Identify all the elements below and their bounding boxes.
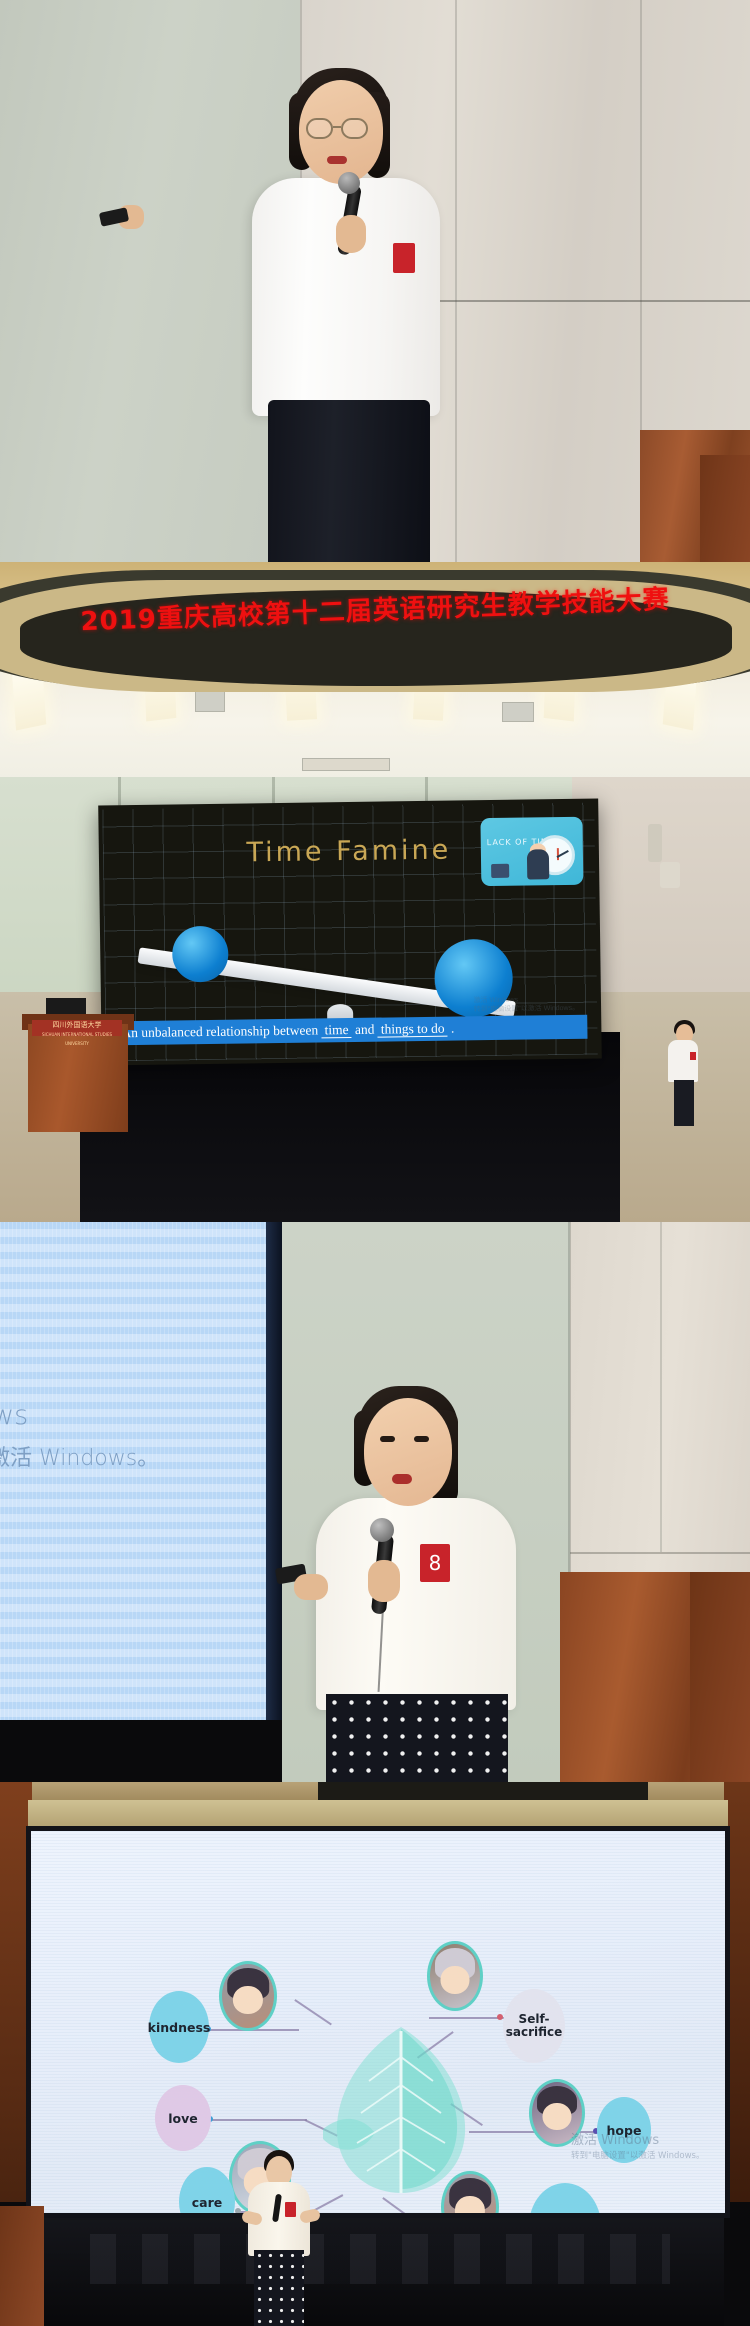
- avatar-face: [441, 1966, 470, 1994]
- windows-activation-watermark-title: 激活 Windows: [571, 2129, 659, 2148]
- projection-screen-partial: ws 激活 Windows。: [0, 1222, 278, 1720]
- caption-mid: and: [351, 1022, 377, 1037]
- speaker-mouth: [327, 156, 347, 164]
- ceiling-vent: [195, 690, 225, 712]
- screen-valance: [28, 1800, 728, 1828]
- windows-activation-watermark: 激活 Windows 转到"电脑设置"以激活 Windows。: [474, 995, 580, 1014]
- briefcase-icon: [491, 864, 509, 878]
- speaker-face: [364, 1398, 452, 1506]
- caption-prefix: An unbalanced relationship between: [121, 1022, 321, 1040]
- speaker-eye-right: [414, 1436, 429, 1442]
- avatar-face: [233, 1986, 263, 2014]
- microphone-head-icon: [370, 1518, 394, 1542]
- speaker-mouth: [392, 1474, 412, 1484]
- wall-speaker-icon: [648, 824, 662, 862]
- node-label-line-1: Self-: [519, 2012, 550, 2026]
- speaker-hand-right: [336, 215, 366, 253]
- mindmap-connector-self: [429, 2017, 505, 2019]
- photo-collage: 2019重庆高校第十二届英语研究生教学技能大赛 Time Famine LACK…: [0, 0, 750, 2326]
- panel-auditorium-wide: 2019重庆高校第十二届英语研究生教学技能大赛 Time Famine LACK…: [0, 562, 750, 1222]
- contestant-badge-number: 8: [420, 1544, 450, 1582]
- watermark-partial-line-1: ws: [0, 1400, 28, 1431]
- podium-nameplate-en: SICHUAN INTERNATIONAL STUDIES UNIVERSITY: [32, 1030, 122, 1048]
- node-label-line-2: sacrifice: [506, 2025, 563, 2039]
- speaker-blouse: [316, 1498, 516, 1710]
- watermark-line-2: 转到"电脑设置"以激活 Windows。: [474, 1004, 579, 1014]
- projector-screen: kindness love care Self- sacrifice hope …: [31, 1831, 725, 2213]
- slide-inset-illustration: LACK OF TIME: [480, 817, 583, 886]
- wall-seam: [455, 0, 457, 562]
- wall-speaker-icon: [660, 862, 680, 888]
- mindmap-node-kindness: kindness: [149, 1991, 209, 2063]
- caption-suffix: .: [447, 1021, 454, 1036]
- podium-monitor: [46, 998, 86, 1014]
- speaker-eye-left: [380, 1436, 395, 1442]
- slide-caption: An unbalanced relationship between time …: [115, 1015, 587, 1046]
- windows-activation-watermark-subtitle: 转到"电脑设置"以激活 Windows。: [571, 2149, 704, 2161]
- inset-character-body: [527, 849, 549, 879]
- panel-stage-wide-mindmap: kindness love care Self- sacrifice hope …: [0, 1782, 750, 2326]
- contestant-badge: [285, 2202, 296, 2217]
- mindmap-node-self-sacrifice: Self- sacrifice: [503, 1989, 565, 2063]
- panel-speaker-closeup: [0, 0, 750, 562]
- mindmap-connector-love: [211, 2119, 307, 2121]
- presenter-badge: [690, 1052, 696, 1060]
- mindmap-node-love: love: [155, 2085, 211, 2151]
- presenter-shirt: [668, 1040, 698, 1082]
- ceiling-vent: [302, 758, 390, 771]
- mindmap-dot-care: [235, 2208, 241, 2213]
- wall-horizontal-line: [570, 1552, 750, 1554]
- projector-screen: Time Famine LACK OF TIME 激活 Window: [102, 803, 597, 1062]
- contestant-badge: [393, 243, 415, 273]
- glasses-lens-left-icon: [306, 118, 333, 139]
- podium-nameplate-cn: 四川外国语大学: [32, 1021, 122, 1030]
- mindmap-avatar-self-sacrifice: [427, 1941, 483, 2011]
- mindmap-avatar-kindness: [219, 1961, 277, 2031]
- ceiling-dark-strip: [318, 1782, 648, 1800]
- speaker-hand-left: [294, 1574, 328, 1600]
- presenter-polka-dot-skirt: [254, 2250, 304, 2326]
- projector-screen-frame: kindness love care Self- sacrifice hope …: [26, 1826, 730, 2218]
- speaker-hand-right: [368, 1560, 400, 1602]
- wood-panel: [690, 1572, 750, 1782]
- podium-nameplate: 四川外国语大学 SICHUAN INTERNATIONAL STUDIES UN…: [32, 1020, 122, 1036]
- watermark-partial-line-2: 激活 Windows。: [0, 1440, 159, 1472]
- avatar-face: [543, 2103, 572, 2130]
- stage-dark-area: [0, 1720, 282, 1782]
- glasses-lens-right-icon: [341, 118, 368, 139]
- panel-speaker-with-projection: ws 激活 Windows。 8: [0, 1222, 750, 1782]
- wood-trim: [700, 455, 750, 562]
- podium: [0, 2206, 44, 2326]
- screen-bezel: [266, 1222, 282, 1720]
- projector-screen-frame: Time Famine LACK OF TIME 激活 Window: [98, 799, 602, 1066]
- presenter-figure: [244, 2150, 314, 2326]
- speaker-polka-dot-skirt: [326, 1694, 508, 1782]
- ceiling-vent: [502, 702, 534, 722]
- audience-silhouettes: [90, 2234, 670, 2284]
- presenter-trousers: [674, 1080, 694, 1126]
- caption-blank-2: things to do: [378, 1021, 448, 1038]
- speaker-skirt: [268, 400, 430, 562]
- caption-blank-1: time: [321, 1022, 351, 1038]
- mindmap-dot-self: [497, 2014, 503, 2020]
- leaf-graphic-icon: [317, 2021, 485, 2197]
- wall-seam: [660, 1222, 662, 1552]
- glasses-bridge-icon: [333, 126, 341, 128]
